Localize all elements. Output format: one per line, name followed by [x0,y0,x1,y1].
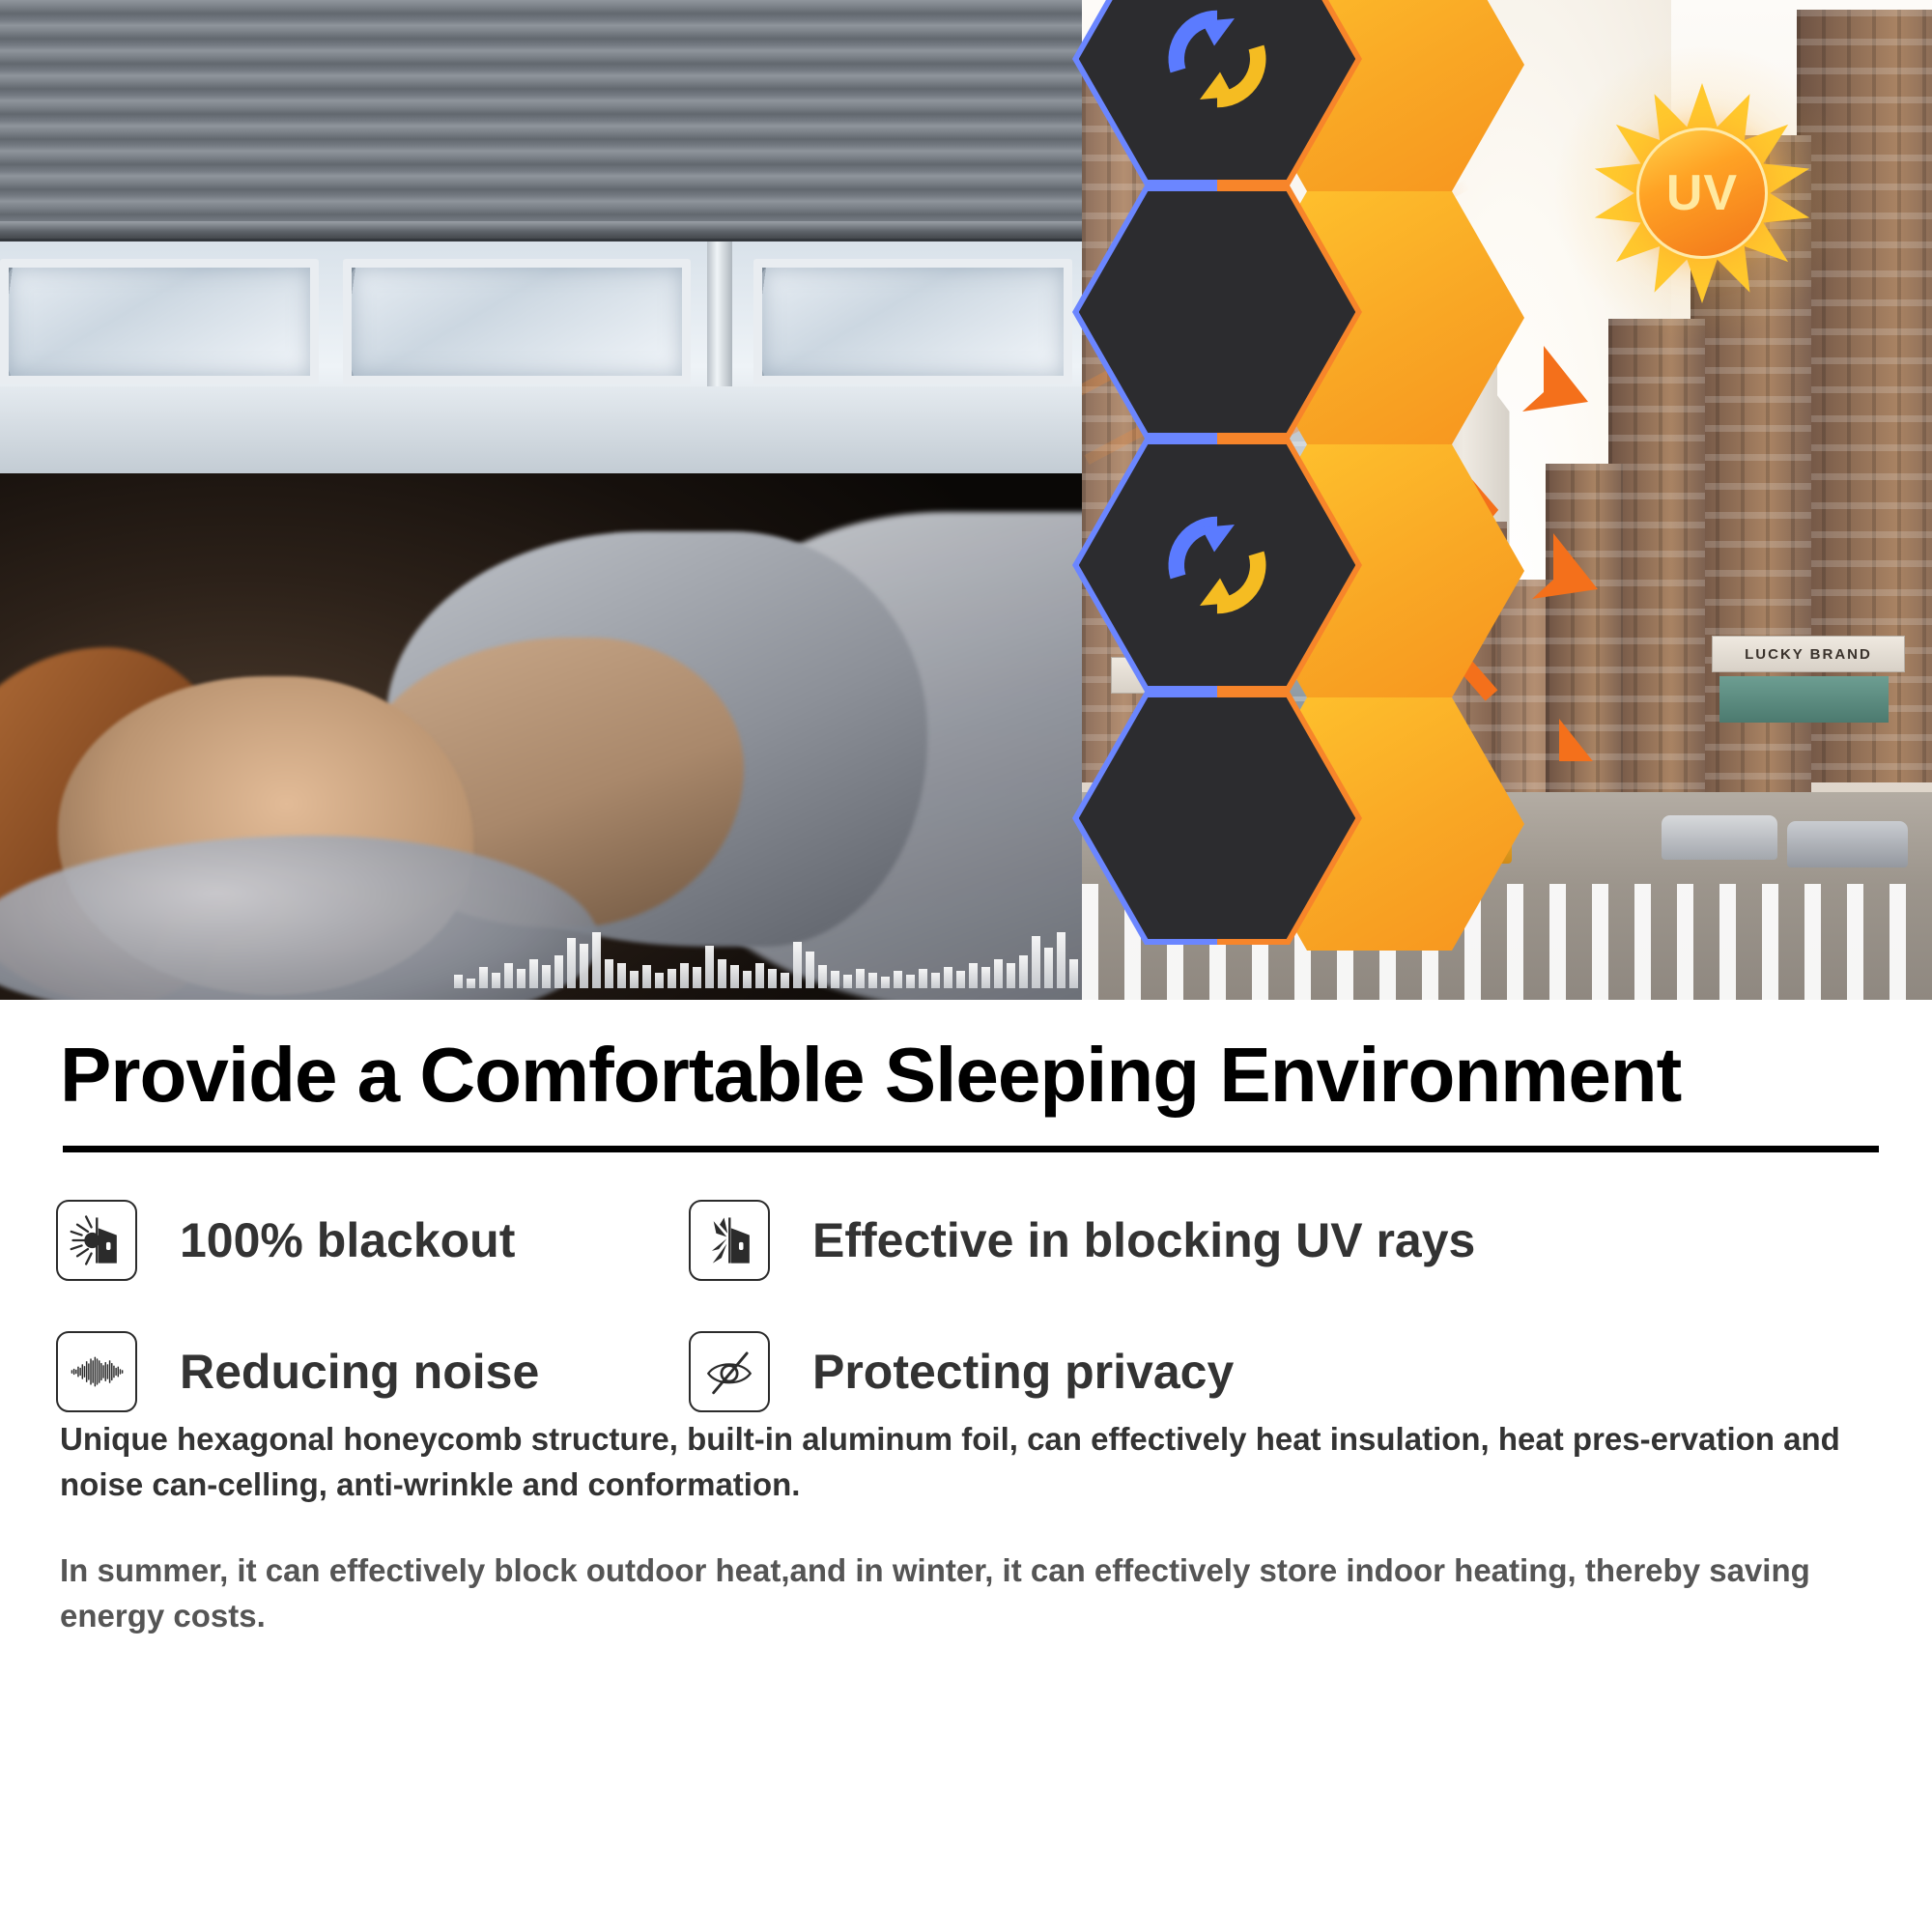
feature-row: Reducing noise Protecting privacy [56,1331,1891,1412]
body-copy: Unique hexagonal honeycomb structure, bu… [60,1417,1876,1638]
storefront-sign: LUCKY BRAND [1712,636,1905,672]
window-pane [753,259,1072,384]
feature-item-noise: Reducing noise [56,1331,689,1412]
feature-list: 100% blackout Effe [56,1200,1891,1412]
car [1787,821,1908,867]
content-panel: Provide a Comfortable Sleeping Environme… [0,1000,1932,1932]
feature-label: 100% blackout [180,1212,515,1268]
feature-label: Effective in blocking UV rays [812,1212,1475,1268]
sound-wave-overlay [454,926,1169,988]
page-title: Provide a Comfortable Sleeping Environme… [60,1031,1886,1120]
car [1662,815,1777,860]
storefront-awning [1719,676,1889,723]
window-sill [0,386,1217,473]
uv-badge: UV [1615,106,1789,280]
thermal-cycle-icon [1072,439,1362,692]
infographic-page: LUCKY BRAND Aritzia [0,0,1932,1932]
cellular-blind [0,0,1217,241]
honeycomb-structure [1072,0,1478,1000]
feature-row: 100% blackout Effe [56,1200,1891,1281]
uv-label: UV [1666,164,1738,222]
thermal-cycle-icon [1072,0,1362,185]
body-paragraph-2: In summer, it can effectively block outd… [60,1548,1876,1639]
uv-blocking-house-icon [689,1200,770,1281]
eye-slash-privacy-icon [689,1331,770,1412]
darkened-room [0,473,1217,1000]
window-pane [343,259,691,384]
title-divider [63,1146,1879,1152]
feature-item-blackout: 100% blackout [56,1200,689,1281]
body-paragraph-1: Unique hexagonal honeycomb structure, bu… [60,1417,1876,1508]
uv-core: UV [1636,128,1768,259]
feature-item-uv: Effective in blocking UV rays [689,1200,1475,1281]
feature-label: Reducing noise [180,1344,539,1400]
bedroom-scene [0,0,1217,1000]
window-pane [0,259,319,384]
hero-image-band: LUCKY BRAND Aritzia [0,0,1932,1000]
feature-item-privacy: Protecting privacy [689,1331,1234,1412]
feature-label: Protecting privacy [812,1344,1234,1400]
sound-wave-icon [56,1331,137,1412]
blackout-sun-house-icon [56,1200,137,1281]
